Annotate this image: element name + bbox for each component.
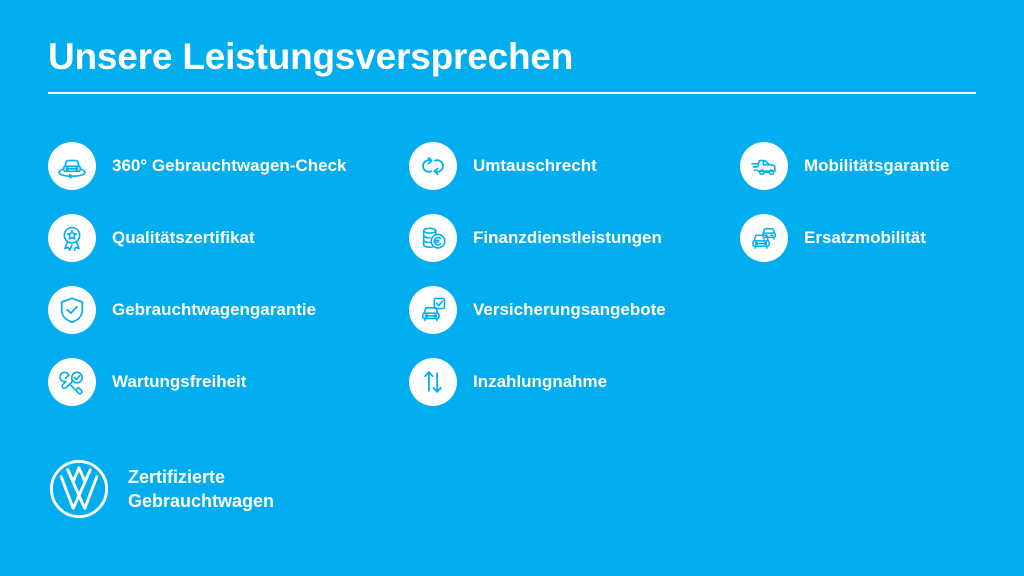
feature-label: Inzahlungnahme bbox=[473, 373, 607, 392]
car-360-check-icon bbox=[48, 142, 96, 190]
feature-column-2: Umtauschrecht Finanz bbox=[409, 142, 739, 430]
features-grid: 360° Gebrauchtwagen-Check Qualitätszerti… bbox=[48, 142, 1024, 432]
feature-item[interactable]: Gebrauchtwagengarantie bbox=[48, 286, 388, 334]
feature-column-1: 360° Gebrauchtwagen-Check Qualitätszerti… bbox=[48, 142, 388, 430]
feature-label: Qualitätszertifikat bbox=[112, 229, 255, 248]
feature-item[interactable]: Qualitätszertifikat bbox=[48, 214, 388, 262]
feature-item[interactable]: Inzahlungnahme bbox=[409, 358, 739, 406]
coins-euro-icon bbox=[409, 214, 457, 262]
exchange-arrows-icon bbox=[409, 142, 457, 190]
brand-block: Zertifizierte Gebrauchtwagen bbox=[48, 458, 274, 520]
feature-item[interactable]: Wartungsfreiheit bbox=[48, 358, 388, 406]
header-divider bbox=[48, 92, 976, 94]
car-checkbox-icon bbox=[409, 286, 457, 334]
feature-label: Versicherungsangebote bbox=[473, 301, 666, 320]
feature-label: Umtauschrecht bbox=[473, 157, 597, 176]
page-title: Unsere Leistungsversprechen bbox=[48, 36, 573, 78]
brand-text-line-1: Zertifizierte bbox=[128, 465, 274, 489]
shield-check-icon bbox=[48, 286, 96, 334]
feature-column-3: Mobilitätsgarantie bbox=[740, 142, 1024, 286]
feature-item[interactable]: Versicherungsangebote bbox=[409, 286, 739, 334]
feature-label: Ersatzmobilität bbox=[804, 229, 926, 248]
feature-item[interactable]: Mobilitätsgarantie bbox=[740, 142, 1024, 190]
feature-label: Mobilitätsgarantie bbox=[804, 157, 949, 176]
wrench-check-icon bbox=[48, 358, 96, 406]
up-down-arrows-icon bbox=[409, 358, 457, 406]
slide-root: Unsere Leistungsversprechen 360° Ge bbox=[0, 0, 1024, 576]
feature-item[interactable]: Umtauschrecht bbox=[409, 142, 739, 190]
feature-item[interactable]: Ersatzmobilität bbox=[740, 214, 1024, 262]
feature-item[interactable]: 360° Gebrauchtwagen-Check bbox=[48, 142, 388, 190]
brand-text-line-2: Gebrauchtwagen bbox=[128, 489, 274, 513]
two-cars-icon bbox=[740, 214, 788, 262]
award-ribbon-icon bbox=[48, 214, 96, 262]
car-motion-icon bbox=[740, 142, 788, 190]
feature-label: 360° Gebrauchtwagen-Check bbox=[112, 157, 347, 176]
feature-label: Wartungsfreiheit bbox=[112, 373, 246, 392]
volkswagen-logo-icon bbox=[48, 458, 110, 520]
feature-item[interactable]: Finanzdienstleistungen bbox=[409, 214, 739, 262]
feature-label: Gebrauchtwagengarantie bbox=[112, 301, 316, 320]
feature-label: Finanzdienstleistungen bbox=[473, 229, 662, 248]
brand-text: Zertifizierte Gebrauchtwagen bbox=[128, 465, 274, 514]
